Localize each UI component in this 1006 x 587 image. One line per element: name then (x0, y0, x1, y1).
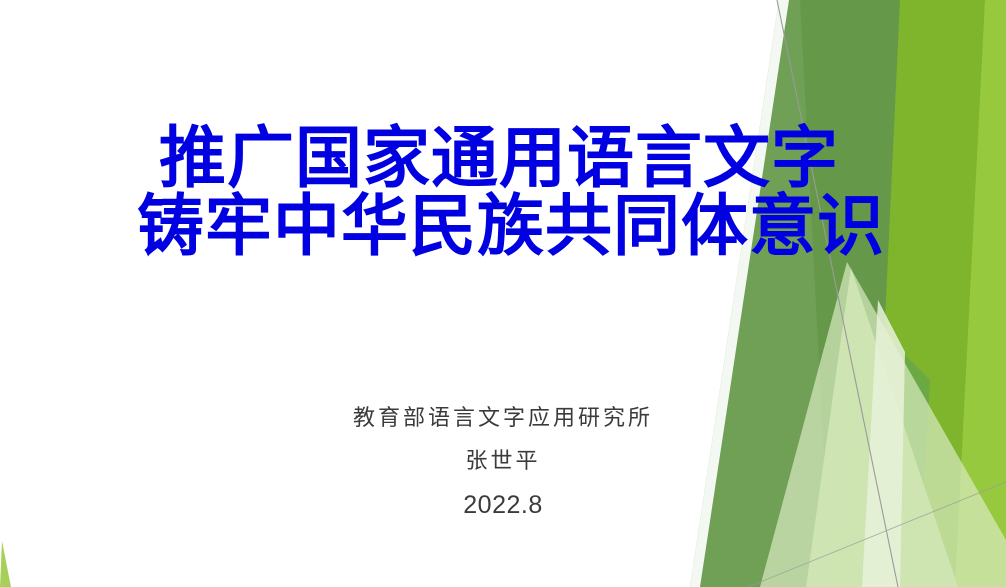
subtitle-author: 张世平 (0, 451, 1006, 473)
title-line-1: 推广国家通用语言文字 (0, 124, 1006, 192)
subtitle-date: 2022.8 (0, 493, 1006, 518)
subtitle-block: 教育部语言文字应用研究所 张世平 2022.8 (0, 408, 1006, 518)
subtitle-organization: 教育部语言文字应用研究所 (0, 408, 1006, 430)
title-line-2: 铸牢中华民族共同体意识 (16, 192, 1006, 260)
presentation-title-slide: 推广国家通用语言文字 铸牢中华民族共同体意识 教育部语言文字应用研究所 张世平 … (0, 0, 1006, 587)
decor-corner-sliver (0, 541, 11, 587)
page-title: 推广国家通用语言文字 铸牢中华民族共同体意识 (0, 124, 1006, 261)
